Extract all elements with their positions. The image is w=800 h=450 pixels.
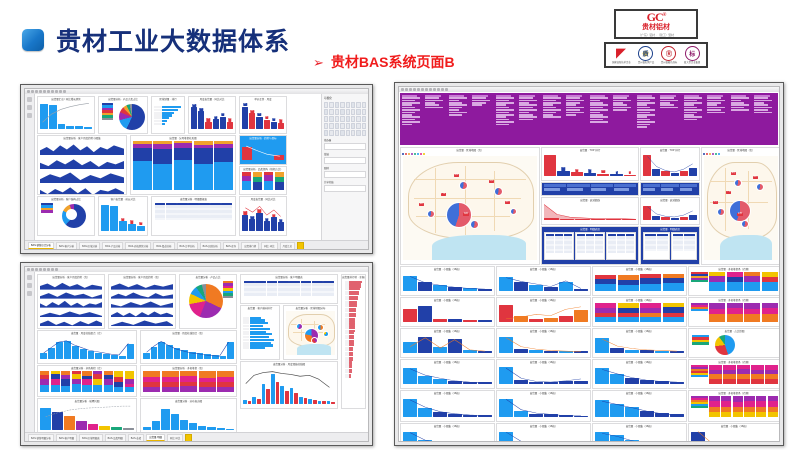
tab-page[interactable]: BAS-客户明细 <box>56 434 77 441</box>
chart-card[interactable]: 出货量分析 · 客户结构占比 <box>37 196 95 236</box>
chart-card[interactable]: 出货量 · 小图集（16格） <box>592 359 687 389</box>
chart-card[interactable]: 出货量 · 多色堆积条（右侧） <box>688 266 780 296</box>
chart-title: 出货量 · 小图集（16格） <box>497 424 590 428</box>
chart-legend <box>702 152 780 155</box>
chart-title: 单价走势 · 月度 <box>240 97 286 101</box>
tab-page[interactable]: 同比·环比 <box>261 242 277 249</box>
scatter-chart-icon[interactable] <box>324 109 328 115</box>
chart-title: 出货量分析 · 分布直方图 <box>141 399 236 403</box>
custom-visual-2-icon[interactable] <box>329 130 333 136</box>
region-map[interactable] <box>286 311 335 355</box>
chart-title: 出货量 · 小图集（16格） <box>497 329 590 333</box>
table-icon[interactable] <box>340 116 344 122</box>
field-well-dropzone[interactable] <box>324 171 366 178</box>
report-canvas-b: 出货量分析 · 客户月度趋势（左） 出货量分析 · 客户月度趋势（右） <box>25 272 368 441</box>
qna-icon[interactable] <box>329 123 333 129</box>
chart-title: 出货量分析 · 月度双轴柱线图 <box>241 362 337 366</box>
app-window-a: 出货量汇总 / 同比增长趋势 出货量分析 · 产品大类占比 <box>24 88 369 250</box>
card-icon[interactable] <box>362 109 366 115</box>
chart-title: 出货量分析 · 区域地图分布 <box>284 306 337 310</box>
trademark-icon: Ⓡ <box>661 46 676 61</box>
chart-title: 出货量 · 小图集（16格） <box>401 424 494 428</box>
chart-title: 出货量 · 小图集（16格） <box>401 267 494 271</box>
chart-title: 出货量 · 小图集（16格） <box>401 329 494 333</box>
screenshot-dashboard-a-top[interactable]: 出货量汇总 / 同比增长趋势 出货量分析 · 产品大类占比 <box>20 84 373 254</box>
chart-title: 出货量分析 · 客户月度趋势（右） <box>109 275 175 279</box>
chart-card[interactable]: 出货量分析 · 品类矩阵（堆积占比） <box>239 166 287 195</box>
brand-caption: （广东）铝材 · （建工）型材 <box>638 34 674 37</box>
screenshot-dashboard-a-bottom[interactable]: 出货量分析 · 客户月度趋势（左） 出货量分析 · 客户月度趋势（右） <box>20 262 373 446</box>
badge-item: 质 贵州省名牌产品 <box>637 46 655 65</box>
slicer-column[interactable] <box>754 95 777 144</box>
power-apps-icon[interactable] <box>346 123 350 129</box>
page-title-text: 贵材工业大数据体系 <box>56 22 290 58</box>
tab-page[interactable]: BAS-客户分析 <box>56 242 77 249</box>
chart-title: 出货量分析 · 品类矩阵（堆积占比） <box>240 167 286 171</box>
region-map[interactable]: 广州 韶关 汕头 肇庆 深圳 潮州 <box>403 156 537 260</box>
chart-card[interactable]: 出货量分析 · 客户月度趋势（左） <box>37 274 105 329</box>
chart-title: 出货量 · 多色堆积条（右侧） <box>689 360 780 364</box>
chart-card[interactable]: 出货量 · TOP 排行 <box>640 147 700 181</box>
slicer-column[interactable] <box>637 95 660 144</box>
tab-page[interactable]: BAS-回款分析 <box>200 242 221 249</box>
ranking-bars <box>344 280 363 404</box>
chart-card[interactable]: 出货量分析 · 明细数据表 <box>151 196 236 236</box>
slicer-column[interactable] <box>425 95 448 144</box>
slicer-column[interactable] <box>731 95 754 144</box>
slide-canvas: 贵材工业大数据体系 ➢ 贵材BAS系统页面B GC® 贵材铝材 （广东）铝材 ·… <box>0 0 800 450</box>
tab-page[interactable]: BAS-区域分析 <box>79 242 100 249</box>
chart-title: 出货量 · TOP 排行 <box>641 148 699 152</box>
slicer-column[interactable] <box>566 95 589 144</box>
chart-card[interactable]: 出货量 · 小图集（16格） <box>496 359 591 389</box>
slicer-column[interactable] <box>402 95 425 144</box>
chart-title: 出货量 · 小图集（16格） <box>593 329 686 333</box>
badge-item: 标 省大型企业集团 <box>683 46 701 65</box>
chart-card[interactable]: 出货量分析 · 分布直方图 <box>140 398 237 435</box>
badge-item: Ⓡ 贵州省著名商标 <box>660 46 678 65</box>
chart-card[interactable]: 出货量 · 小图集（16格） <box>688 423 780 442</box>
chart-card[interactable]: 出货量排行榜 · 全客户 <box>341 274 366 409</box>
matrix-icon[interactable] <box>346 116 350 122</box>
left-rail-a[interactable] <box>25 94 35 249</box>
chart-title: 出货量 · 月度柱线组合（右） <box>141 331 236 335</box>
chart-card[interactable]: 单价走势 · 月度 92 68 52 40 33 28 <box>239 96 287 134</box>
badge-item: ◤ 国家高新技术企业 <box>611 46 632 65</box>
kpi-icon[interactable] <box>329 116 333 122</box>
screenshot-dashboard-b[interactable]: 出货量 · 区域地图（左） 广州 韶关 <box>394 82 784 446</box>
field-well-dropzone[interactable] <box>324 143 366 150</box>
combo-chart-icon[interactable] <box>346 102 350 108</box>
subtitle-text: 贵材BAS系统页面B <box>331 52 455 72</box>
ribbon-chart-icon[interactable] <box>351 102 355 108</box>
field-well-dropzone[interactable] <box>324 157 366 164</box>
tab-page[interactable]: BAS-销售综合分析 <box>28 242 54 249</box>
chart-title: 出货量 · 小图集（16格） <box>401 391 494 395</box>
field-well-label: 共享的轴 <box>324 180 366 184</box>
report-canvas-c: 出货量 · 区域地图（左） 广州 韶关 <box>399 92 779 441</box>
chart-card[interactable]: 出货量分析 · 多色堆积（右） <box>140 365 237 397</box>
chart-title: 出货量 · 月度柱线组合（左） <box>38 331 136 335</box>
app-window-b: 出货量分析 · 客户月度趋势（左） 出货量分析 · 客户月度趋势（右） <box>24 266 369 442</box>
tab-page[interactable]: 月度汇总 <box>280 242 296 249</box>
chart-legend <box>401 152 539 155</box>
python-visual-icon[interactable] <box>356 116 360 122</box>
chart-title: 出货量分析 · 客户月度趋势小图集 <box>38 136 126 140</box>
chart-title: 出货量 · 明细表组 <box>641 227 699 231</box>
tab-page[interactable]: 出货排行榜 <box>241 242 259 249</box>
badge-caption: 贵州省名牌产品 <box>637 62 653 64</box>
slicer-panel[interactable] <box>400 93 778 145</box>
chart-title: 出货量分析 · 多色堆积（右） <box>141 366 236 370</box>
chart-title: 区域销量 · 排行 <box>152 97 184 101</box>
brand-logo: GC® 贵材铝材 （广东）铝材 · （建工）型材 <box>614 9 698 39</box>
tab-page[interactable]: BAS-区域明细表 <box>79 434 103 441</box>
badge-caption: 贵州省著名商标 <box>661 62 677 64</box>
funnel-chart-icon[interactable] <box>362 102 366 108</box>
chart-card[interactable]: 出货量 · 分月堆积柱形图 <box>130 135 236 195</box>
chart-card[interactable]: 出货量 · 小图集（16格） <box>400 423 495 442</box>
chart-title: 出货量 · 小图集（16格） <box>401 360 494 364</box>
brand-name-cn: 贵材铝材 <box>642 24 670 32</box>
chart-title: 出货量分析 · 多色堆积（左） <box>38 366 136 370</box>
badge-caption: 省大型企业集团 <box>684 62 700 64</box>
field-well-dropzone[interactable] <box>324 185 366 192</box>
chart-title: 出货量 · 小图集（16格） <box>593 267 686 271</box>
arrow-right-icon: ➢ <box>313 56 324 69</box>
chart-title: 出货量分析 · 产品大类占比 <box>99 97 147 101</box>
custom-visual-1-icon[interactable] <box>324 130 328 136</box>
chart-title: 出货量 · 小图集（16格） <box>497 267 590 271</box>
slicer-column[interactable] <box>449 95 472 144</box>
chart-card[interactable]: 出货量 · 小图集（16格） <box>496 266 591 296</box>
kpi-card[interactable] <box>541 182 639 196</box>
field-well-label: 图例 <box>324 166 366 170</box>
chart-title: 出货量 · 多色堆积条（右侧） <box>689 298 780 302</box>
subtitle: ➢ 贵材BAS系统页面B <box>313 52 455 72</box>
report-canvas-a: 出货量汇总 / 同比增长趋势 出货量分析 · 产品大类占比 <box>25 94 368 249</box>
chart-title: 出货量 · 多色堆积条（右侧） <box>689 391 780 395</box>
tab-page[interactable]: 同比·环比 <box>167 434 183 441</box>
chart-card[interactable]: 月度出货量 · 同比对比 22 18 28 14 20 12 <box>239 196 287 236</box>
slicer-column[interactable] <box>707 95 730 144</box>
chart-card[interactable]: 出货量分析 · 帕累托图 <box>37 398 137 435</box>
chart-card[interactable]: 出货量 · 小图集（16格） <box>400 390 495 422</box>
chart-title: 出货量 · 明细表组 <box>542 227 638 231</box>
tab-page[interactable]: BAS-品类明细 <box>105 434 126 441</box>
visualization-pane[interactable]: 可视化 筛选器 值轴 <box>321 94 368 249</box>
chart-card[interactable]: 出货量 · 小图集（16格） <box>400 297 495 327</box>
gauge-icon[interactable] <box>356 109 360 115</box>
waterfall-chart-icon[interactable] <box>356 102 360 108</box>
chart-title: 出货量分析 · 趋势与目标 <box>240 136 286 140</box>
flag-icon: ◤ <box>613 46 628 61</box>
bar-chart-icon[interactable] <box>324 102 328 108</box>
chart-card[interactable]: 出货量 · 小图集（16格） <box>400 328 495 358</box>
chart-card[interactable]: 出货量 · 区域地图（右） 广州 清远 梅州 <box>701 147 780 265</box>
smart-narrative-icon[interactable] <box>335 123 339 129</box>
chart-card[interactable]: 月度出货量 · 同比对比 88 74 30 40 52 30 <box>188 96 236 134</box>
format-icon[interactable] <box>362 123 366 129</box>
slicer-column[interactable] <box>660 95 683 144</box>
custom-visual-4-icon[interactable] <box>340 130 344 136</box>
chart-title: 出货量 · 小图集（16格） <box>401 298 494 302</box>
chart-card[interactable]: 出货量 · 占比饼图 <box>688 328 780 358</box>
chart-card[interactable]: 出货量分析 · 产品占比 <box>179 274 237 329</box>
field-well-label: 筛选器 <box>324 138 366 142</box>
chart-title: 出货量分析 · 产品占比 <box>180 275 236 279</box>
chart-title: 出货量 · 小图集（16格） <box>497 298 590 302</box>
chart-title: 出货量 · TOP 排行 <box>542 148 638 152</box>
r-visual-icon[interactable] <box>351 116 355 122</box>
page-title: 贵材工业大数据体系 <box>22 22 290 58</box>
chart-card[interactable]: 出货量 · 小图集（16格） <box>400 266 495 296</box>
bullet-icon <box>22 29 44 51</box>
tab-page[interactable]: BAS-产品分析 <box>102 242 123 249</box>
tab-page[interactable]: BAS-库存 <box>223 242 239 249</box>
column-chart-icon[interactable] <box>329 102 333 108</box>
key-influencers-icon[interactable] <box>362 116 366 122</box>
custom-visual-3-icon[interactable] <box>335 130 339 136</box>
viz-pane-title: 可视化 <box>324 96 366 100</box>
slicer-column[interactable] <box>472 95 495 144</box>
chart-card[interactable]: 出货量 · 月度柱线组合（左） <box>37 330 137 364</box>
chart-card[interactable]: 出货量分析 · 客户明细表 <box>240 274 338 304</box>
chart-card[interactable]: 出货量 · 小图集（16格） <box>592 297 687 327</box>
chart-card[interactable]: 出货量 · 区域地图（左） 广州 韶关 <box>400 147 540 265</box>
award-icon: 标 <box>685 46 700 61</box>
chart-card[interactable]: 出货量 · 衰减曲线 <box>640 197 700 225</box>
chart-card[interactable]: 出货量 · 小图集（16格） <box>496 297 591 327</box>
chart-title: 出货量排行榜 · 全客户 <box>342 275 365 279</box>
chart-card[interactable]: 出货量 · 小图集（16格） <box>496 423 591 442</box>
chart-card[interactable]: 出货量 · 小图集（16格） <box>592 266 687 296</box>
chart-card[interactable]: 出货量 · TOP 排行 24 1814 108 6 <box>541 147 639 181</box>
multirow-card-icon[interactable] <box>324 116 328 122</box>
chart-card[interactable]: 出货量分析 · 趋势与目标 <box>239 135 287 165</box>
custom-visual-7-icon[interactable] <box>356 130 360 136</box>
chart-card[interactable]: 出货量分析 · 客户月度趋势小图集 <box>37 135 127 195</box>
chart-title: 出货量分析 · 客户结构占比 <box>38 197 94 201</box>
tab-page[interactable]: BAS-业绩 <box>128 434 144 441</box>
chart-card[interactable]: 出货量 · 多色堆积条（右侧） <box>688 359 780 389</box>
chart-title: 出货量分析 · 客户月度趋势（左） <box>38 275 104 279</box>
area-chart-icon[interactable] <box>340 102 344 108</box>
chart-card[interactable]: 出货量 · 多色堆积条（右侧） <box>688 297 780 327</box>
chart-card[interactable]: 出货量分析 · 多色堆积（左） <box>37 365 137 397</box>
tab-page[interactable]: 出货量·明细 <box>146 434 165 441</box>
chart-card[interactable]: 出货量 · 小图集（16格） <box>496 390 591 422</box>
app-window-c: 出货量 · 区域地图（左） 广州 韶关 <box>398 86 780 442</box>
paginated-report-icon[interactable] <box>340 123 344 129</box>
filled-map-icon[interactable] <box>351 109 355 115</box>
chart-title: 月度出货量 · 同比对比 <box>189 97 235 101</box>
chart-title: 出货量 · 衰减曲线 <box>641 198 699 202</box>
chart-title: 出货量汇总 / 同比增长趋势 <box>38 97 94 101</box>
chart-card[interactable]: 出货量汇总 / 同比增长趋势 <box>37 96 95 134</box>
chart-title: 出货量 · 衰减曲线 <box>542 198 638 202</box>
line-chart-icon[interactable] <box>335 102 339 108</box>
chart-card[interactable]: 区域销量 · 排行 <box>151 96 185 134</box>
chart-title: 出货量分析 · 客户明细表 <box>241 275 337 279</box>
chart-card[interactable]: 出货量 · 多色堆积条（右侧） <box>688 390 780 422</box>
slicer-icon[interactable] <box>335 116 339 122</box>
chart-card[interactable]: 出货量 · 客户横向排行 <box>240 305 280 360</box>
chart-title: 出货量 · 客户横向排行 <box>241 306 279 310</box>
more-visuals-icon[interactable] <box>351 123 355 129</box>
chart-card[interactable]: 出货量 · 小图集（16格） <box>592 390 687 422</box>
tab-page[interactable]: BAS-销售明细分析 <box>28 434 54 441</box>
slicer-column[interactable] <box>496 95 519 144</box>
chart-card[interactable]: 出货量分析 · 产品大类占比 <box>98 96 148 134</box>
chart-title: 出货量 · 小图集（16格） <box>689 424 780 428</box>
chart-title: 出货量 · 小图集（16格） <box>593 391 686 395</box>
decomposition-tree-icon[interactable] <box>324 123 328 129</box>
chart-title: 客户出货量 · 前五对比 <box>99 197 147 201</box>
custom-visual-6-icon[interactable] <box>351 130 355 136</box>
chart-title: 出货量 · 小图集（16格） <box>497 391 590 395</box>
slicer-column[interactable] <box>519 95 542 144</box>
visual-type-icon-grid[interactable] <box>324 102 366 136</box>
chart-title: 出货量 · 小图集（16格） <box>593 424 686 428</box>
get-more-icon[interactable] <box>356 123 360 129</box>
add-page-button[interactable] <box>297 242 304 249</box>
chart-title: 出货量 · 小图集（16格） <box>497 360 590 364</box>
report-page-tabs-b[interactable]: BAS-销售明细分析 BAS-客户明细 BAS-区域明细表 BAS-品类明细 B… <box>25 432 368 441</box>
chart-title: 出货量分析 · 帕累托图 <box>38 399 136 403</box>
slicer-column[interactable] <box>613 95 636 144</box>
chart-card[interactable]: 出货量 · 明细表组 <box>541 226 639 265</box>
chart-title: 出货量 · 占比饼图 <box>689 329 780 333</box>
donut-chart-icon[interactable] <box>335 109 339 115</box>
chart-card[interactable]: 出货量 · 月度柱线组合（右） <box>140 330 237 364</box>
tab-page[interactable]: BAS-价格趋势分析 <box>125 242 151 249</box>
tab-page[interactable]: BAS-渠道分析 <box>153 242 174 249</box>
certification-badges: ◤ 国家高新技术企业 质 贵州省名牌产品 Ⓡ 贵州省著名商标 标 省大型企业集团 <box>604 42 708 68</box>
chart-title: 月度出货量 · 同比对比 <box>240 197 286 201</box>
chart-card[interactable]: 出货量分析 · 月度双轴柱线图 <box>240 361 338 409</box>
brand-mark-text: GC® <box>647 11 666 23</box>
custom-visual-8-icon[interactable] <box>362 130 366 136</box>
chart-title: 出货量分析 · 明细数据表 <box>152 197 235 201</box>
chart-title: 出货量 · 多色堆积条（右侧） <box>689 267 780 271</box>
treemap-icon[interactable] <box>340 109 344 115</box>
chart-card[interactable]: 出货量 · 小图集（16格） <box>592 423 687 442</box>
chart-card[interactable]: 客户出货量 · 前五对比 42 30 24 <box>98 196 148 236</box>
chart-title: 出货量 · 分月堆积柱形图 <box>131 136 235 140</box>
map-icon[interactable] <box>346 109 350 115</box>
pie-chart-icon[interactable] <box>329 109 333 115</box>
chart-card[interactable]: 出货量 · 明细表组 <box>640 226 700 265</box>
chart-card[interactable]: 出货量 · 小图集（16格） <box>496 328 591 358</box>
field-well-label: 值轴 <box>324 152 366 156</box>
chart-card[interactable]: 出货量分析 · 区域地图分布 <box>283 305 338 360</box>
add-page-button[interactable] <box>185 434 192 441</box>
tab-page[interactable]: BAS-订单分析 <box>177 242 198 249</box>
chart-card[interactable]: 出货量分析 · 客户月度趋势（右） <box>108 274 176 329</box>
seal-icon: 质 <box>638 46 653 61</box>
slicer-column[interactable] <box>543 95 566 144</box>
chart-title: 出货量 · 小图集（16格） <box>593 360 686 364</box>
custom-visual-5-icon[interactable] <box>346 130 350 136</box>
chart-card[interactable]: 出货量 · 小图集（16格） <box>400 359 495 389</box>
chart-card[interactable]: 出货量 · 小图集（16格） <box>592 328 687 358</box>
report-page-tabs-a[interactable]: BAS-销售综合分析 BAS-客户分析 BAS-区域分析 BAS-产品分析 BA… <box>25 240 368 249</box>
chart-card[interactable]: 出货量 · 衰减曲线 <box>541 197 639 225</box>
left-rail-b[interactable] <box>25 272 35 441</box>
region-map[interactable]: 广州 清远 梅州 云浮 东莞 <box>704 156 778 260</box>
badge-caption: 国家高新技术企业 <box>612 62 631 64</box>
slicer-column[interactable] <box>684 95 707 144</box>
chart-title: 出货量 · 小图集（16格） <box>593 298 686 302</box>
slicer-column[interactable] <box>590 95 613 144</box>
kpi-card[interactable] <box>640 182 700 196</box>
